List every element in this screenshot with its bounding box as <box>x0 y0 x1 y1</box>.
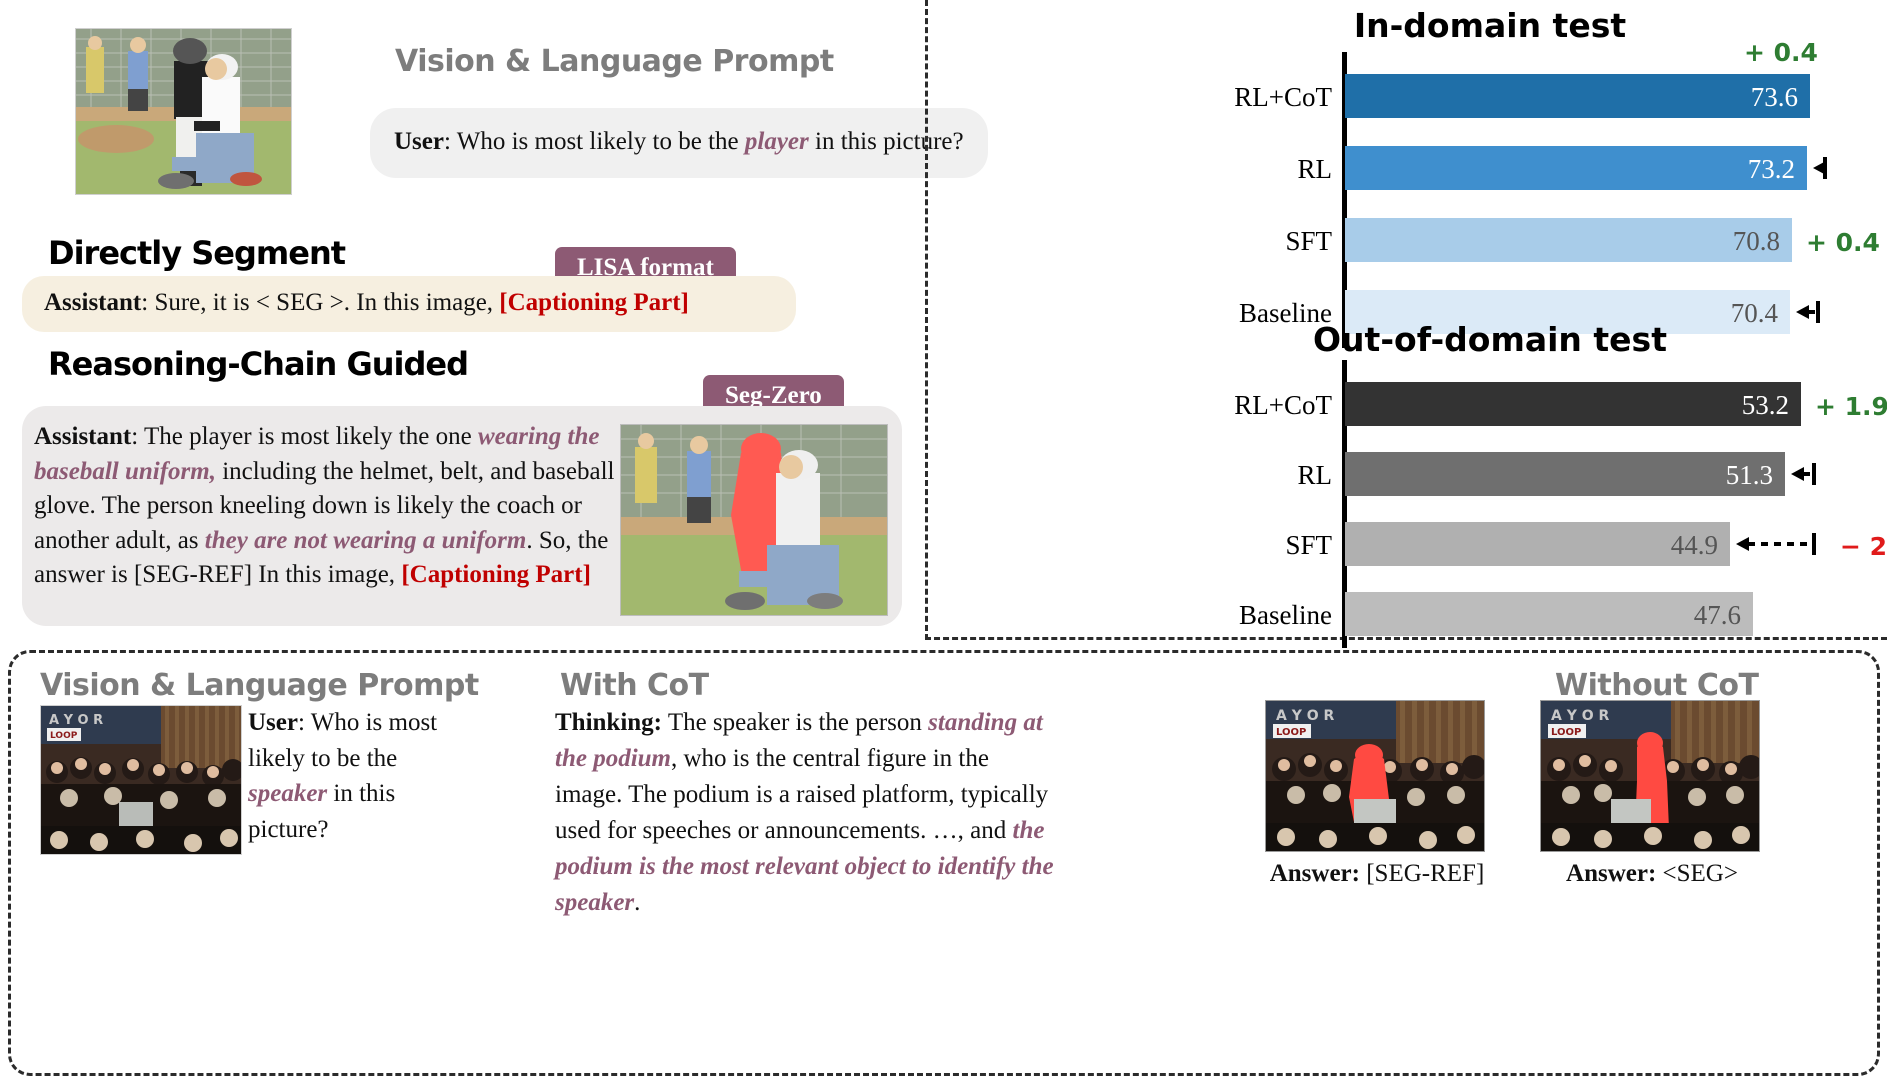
user-question-part2: in this picture? <box>809 128 964 155</box>
assistant-label-direct: Assistant <box>44 289 141 316</box>
chart-category-label: RL+CoT <box>1162 82 1332 113</box>
svg-text:A Y O R: A Y O R <box>1551 708 1609 724</box>
directly-segment-bubble: Assistant: Sure, it is < SEG >. In this … <box>22 276 796 332</box>
chart-bar-value: 53.2 <box>1345 390 1789 421</box>
bottom-user-label: User <box>248 709 298 736</box>
user-question-part1: : Who is most likely to be the <box>444 128 745 155</box>
bottom-user-q-emphasis: speaker <box>248 780 327 807</box>
chart-category-label: Baseline <box>1162 600 1332 631</box>
chart-delta-arrow <box>1796 301 1820 321</box>
bottom-user-question: User: Who is most likely to be the speak… <box>248 705 443 847</box>
chart-bar-value: 44.9 <box>1345 530 1718 561</box>
with-cot-answer-value: [SEG-REF] <box>1366 860 1484 887</box>
without-cot-answer: Answer: <SEG> <box>1527 860 1777 888</box>
chart-delta-label: + 1.9 <box>1815 392 1887 421</box>
chart-category-label: RL <box>1162 154 1332 185</box>
chart-bar-value: 73.2 <box>1345 154 1795 185</box>
without-cot-title: Without CoT <box>1555 668 1758 703</box>
vision-language-prompt-title: Vision & Language Prompt <box>395 44 834 79</box>
chart-delta-arrow <box>1813 157 1827 177</box>
without-cot-answer-value: <SEG> <box>1663 860 1738 887</box>
chart-bar-value: 47.6 <box>1345 600 1741 631</box>
svg-text:LOOP: LOOP <box>1551 727 1581 738</box>
segmentation-result-image <box>620 424 888 616</box>
chart-title: Out-of-domain test <box>1190 320 1790 359</box>
svg-text:A Y O R: A Y O R <box>49 713 103 728</box>
rcg-emphasis-2: they are not wearing a uniform <box>205 527 527 554</box>
thinking-segment-3: . <box>634 889 640 916</box>
assistant-label-rcg: Assistant <box>34 423 131 450</box>
chart-category-label: SFT <box>1162 226 1332 257</box>
bottom-vision-language-prompt-title: Vision & Language Prompt <box>40 668 479 703</box>
with-cot-title: With CoT <box>560 668 709 703</box>
without-cot-answer-label: Answer: <box>1566 860 1656 887</box>
podium-prompt-image: A Y O R LOOP <box>40 705 242 855</box>
svg-text:LOOP: LOOP <box>1276 727 1306 738</box>
chart-category-label: RL+CoT <box>1162 390 1332 421</box>
horizontal-divider <box>925 637 1887 640</box>
reasoning-chain-text: Assistant: The player is most likely the… <box>34 420 624 593</box>
chart-category-label: RL <box>1162 460 1332 491</box>
user-label: User <box>394 128 444 155</box>
captioning-part-rcg: [Captioning Part] <box>401 561 591 588</box>
svg-text:LOOP: LOOP <box>50 731 78 741</box>
chart-bar-value: 73.6 <box>1345 82 1798 113</box>
chart-bar-value: 51.3 <box>1345 460 1773 491</box>
user-prompt-bubble: User: Who is most likely to be the playe… <box>370 108 988 178</box>
chart-delta-arrow <box>1791 463 1816 483</box>
directly-segment-heading: Directly Segment <box>48 234 345 272</box>
chart-delta-label: − 2.7 <box>1840 532 1887 561</box>
vertical-divider <box>925 0 928 640</box>
chart-delta-arrow <box>1736 533 1816 553</box>
chart-category-label: SFT <box>1162 530 1332 561</box>
user-question-emphasis: player <box>745 128 809 155</box>
with-cot-answer: Answer: [SEG-REF] <box>1252 860 1502 888</box>
thinking-label: Thinking: <box>555 709 662 736</box>
chart-delta-label: + 0.4 <box>1806 228 1880 257</box>
chart-delta-label: + 0.4 <box>1744 38 1818 67</box>
captioning-part-direct: [Captioning Part] <box>499 289 689 316</box>
with-cot-answer-label: Answer: <box>1270 860 1360 887</box>
chart-title: In-domain test <box>1190 6 1790 45</box>
out-of-domain-chart: Out-of-domain testRL+CoT53.2+ 1.9RL51.3S… <box>1130 320 1887 630</box>
thinking-segment-1: The speaker is the person <box>662 709 928 736</box>
direct-answer-text: : Sure, it is < SEG >. In this image, <box>141 289 499 316</box>
baseball-prompt-image <box>75 28 292 195</box>
in-domain-chart: In-domain testRL+CoT73.6+ 0.4RL73.2SFT70… <box>1130 6 1887 316</box>
reasoning-chain-guided-heading: Reasoning-Chain Guided <box>48 345 468 383</box>
svg-text:A Y O R: A Y O R <box>1276 708 1334 724</box>
thinking-text: Thinking: The speaker is the person stan… <box>555 705 1055 921</box>
without-cot-result-image: A Y O R LOOP <box>1540 700 1760 852</box>
chart-bar-value: 70.8 <box>1345 226 1780 257</box>
with-cot-result-image: A Y O R LOOP <box>1265 700 1485 852</box>
rcg-segment-1: : The player is most likely the one <box>131 423 478 450</box>
